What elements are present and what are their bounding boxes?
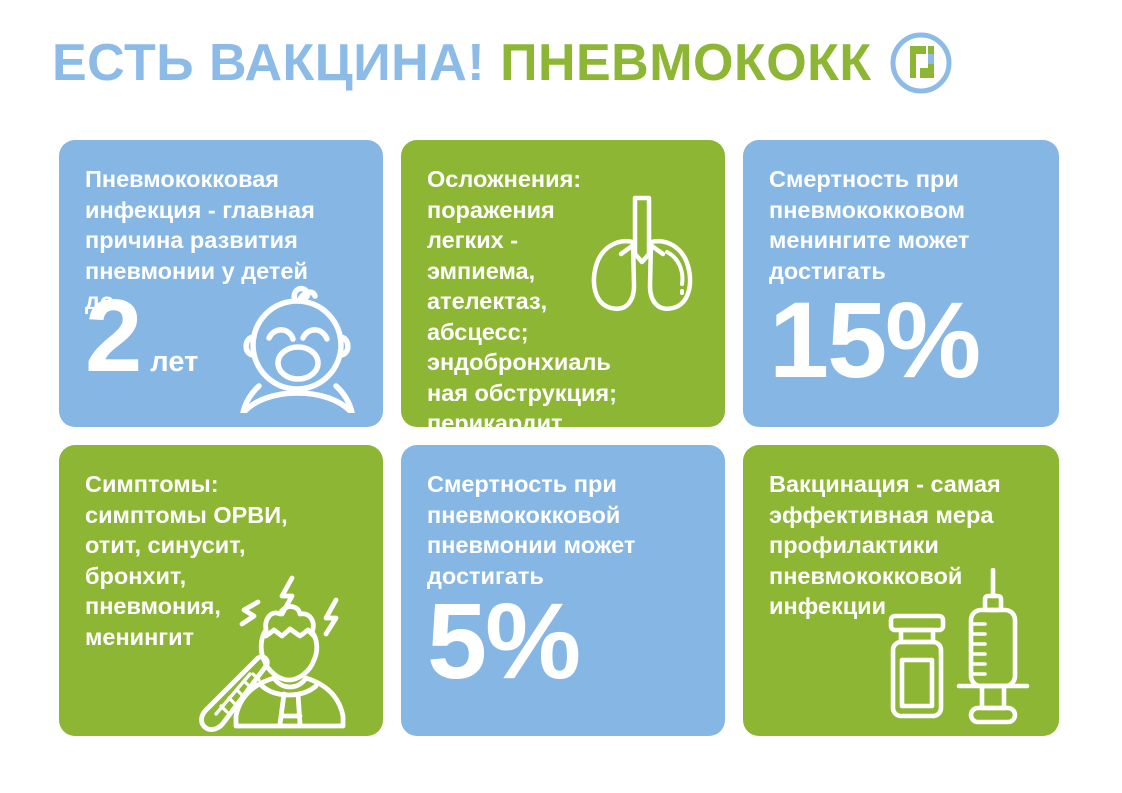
card-complications: Осложнения: поражения легких - эмпиема, … <box>401 140 725 427</box>
card-symptoms: Симптомы: симптомы ОРВИ, отит, синусит, … <box>59 445 383 736</box>
page-title: ЕСТЬ ВАКЦИНА! ПНЕВМОКОКК <box>52 37 872 89</box>
card-text: Симптомы: симптомы ОРВИ, отит, синусит, … <box>85 469 361 652</box>
stat-value: 2 лет <box>85 291 198 382</box>
cards-grid: Пневмококковая инфекция - главная причин… <box>59 140 1065 736</box>
poster-header: ЕСТЬ ВАКЦИНА! ПНЕВМОКОКК <box>0 0 1122 125</box>
card-vaccination: Вакцинация - самая эффективная мера проф… <box>743 445 1059 736</box>
card-text: Осложнения: поражения легких - эмпиема, … <box>427 164 703 427</box>
title-segment-blue: ЕСТЬ ВАКЦИНА! <box>52 37 485 89</box>
card-pneumonia-mortality: Смертность при пневмококковой пневмонии … <box>401 445 725 736</box>
stat-number: 2 <box>85 291 140 382</box>
title-segment-green: ПНЕВМОКОКК <box>485 37 872 89</box>
card-text: Смертность при пневмококковой пневмонии … <box>427 469 703 591</box>
organization-logo-icon <box>890 32 952 94</box>
stat-value: 15% <box>769 292 979 387</box>
stat-unit: лет <box>150 350 198 376</box>
card-text: Смертность при пневмококковом менингите … <box>769 164 1037 286</box>
card-meningitis-mortality: Смертность при пневмококковом менингите … <box>743 140 1059 427</box>
stat-value: 5% <box>427 593 579 688</box>
card-text: Вакцинация - самая эффективная мера проф… <box>769 469 1037 622</box>
infographic-poster: ЕСТЬ ВАКЦИНА! ПНЕВМОКОКК Пневмококковая … <box>0 0 1122 793</box>
card-infection-cause: Пневмококковая инфекция - главная причин… <box>59 140 383 427</box>
